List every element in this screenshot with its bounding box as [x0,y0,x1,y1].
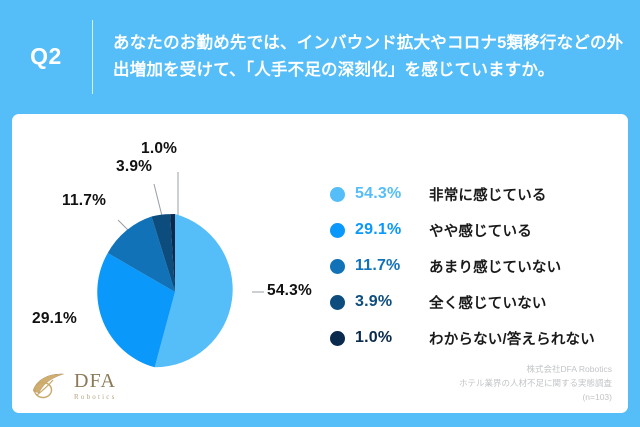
dfa-swoosh-icon [30,371,68,401]
pie-label-3: 11.7% [62,192,106,210]
pie-label-4: 3.9% [116,158,152,176]
pie-label-1: 54.3% [267,282,312,300]
pie-label-5: 1.0% [141,140,177,158]
legend-label: 非常に感じている [429,184,547,205]
legend-label: あまり感じていない [429,256,561,277]
legend-percent: 1.0% [355,329,429,347]
pie-label-2: 29.1% [32,310,77,328]
footer-survey-name: ホテル業界の人材不足に関する実態調査 [459,376,612,390]
legend-dot-icon [330,331,345,346]
legend-item-5[interactable]: 1.0% わからない/答えられない [330,320,630,356]
chart-legend: 54.3% 非常に感じている 29.1% やや感じている 11.7% あまり感じ… [330,176,630,356]
leader-line-4 [154,184,163,220]
logo-subtitle: Robotics [74,394,117,401]
chart-card: 54.3% 29.1% 11.7% 3.9% 1.0% 54.3% 非常に感じて… [12,114,628,413]
logo-name: DFA [74,371,117,391]
question-header: Q2 あなたのお勤め先では、インバウンド拡大やコロナ5類移行などの外出増加を受け… [0,0,640,113]
legend-percent: 3.9% [355,293,429,311]
legend-item-2[interactable]: 29.1% やや感じている [330,212,630,248]
legend-item-1[interactable]: 54.3% 非常に感じている [330,176,630,212]
question-text: あなたのお勤め先では、インバウンド拡大やコロナ5類移行などの外出増加を受けて、「… [93,30,640,83]
legend-label: わからない/答えられない [429,328,595,349]
source-footer: 株式会社DFA Robotics ホテル業界の人材不足に関する実態調査 (n=1… [459,362,612,404]
legend-percent: 29.1% [355,221,429,239]
legend-item-3[interactable]: 11.7% あまり感じていない [330,248,630,284]
company-logo: DFA Robotics [30,366,160,406]
legend-percent: 54.3% [355,185,429,203]
footer-company: 株式会社DFA Robotics [459,362,612,376]
legend-item-4[interactable]: 3.9% 全く感じていない [330,284,630,320]
legend-dot-icon [330,295,345,310]
legend-label: 全く感じていない [429,292,547,313]
legend-dot-icon [330,223,345,238]
legend-dot-icon [330,259,345,274]
legend-percent: 11.7% [355,257,429,275]
legend-label: やや感じている [429,220,532,241]
footer-sample-size: (n=103) [459,390,612,404]
question-number: Q2 [0,43,92,70]
legend-dot-icon [330,187,345,202]
